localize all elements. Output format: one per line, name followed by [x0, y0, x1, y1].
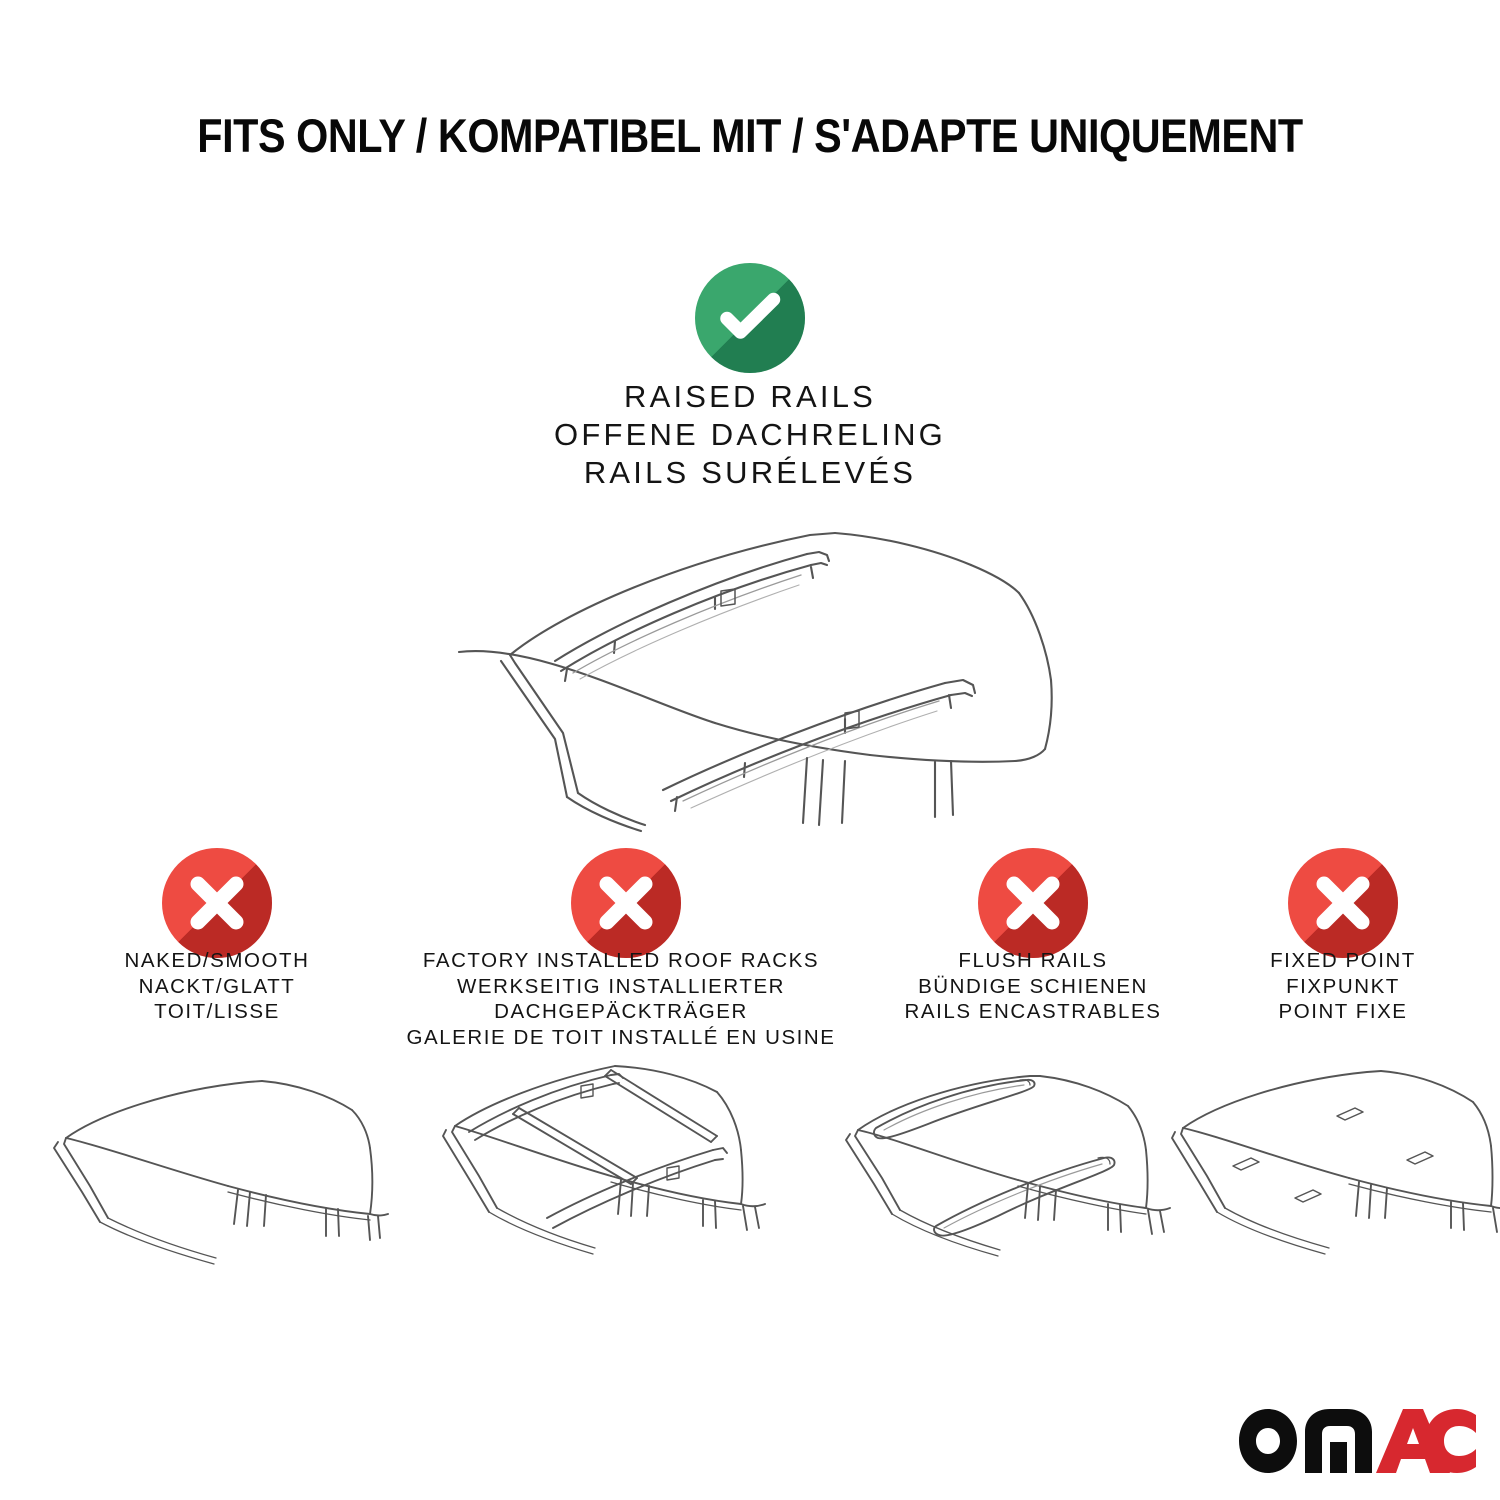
omac-logo-red-part	[1376, 1409, 1476, 1473]
x-circle-icon	[162, 848, 272, 958]
logo-letter-o	[1239, 1409, 1297, 1473]
x-mark-glyph	[571, 848, 681, 958]
incompatible-badge-fixed-point	[1288, 848, 1398, 958]
x-mark-glyph	[1288, 848, 1398, 958]
label-line-de: FIXPUNKT	[1093, 974, 1500, 1000]
car-roof-raised-rails-illustration	[415, 505, 1115, 835]
car-roof-factory-installed-roof-racks-illustration	[405, 1058, 775, 1293]
omac-logo	[1235, 1405, 1480, 1485]
incompatible-label-fixed-point: FIXED POINT FIXPUNKT POINT FIXE	[1093, 948, 1500, 1025]
car-roof-fixed-point-illustration	[1155, 1058, 1500, 1293]
roof-illustrations-row	[0, 1058, 1500, 1298]
logo-letter-m-notch	[1330, 1442, 1347, 1473]
check-circle-icon	[695, 263, 805, 373]
x-mark-glyph	[162, 848, 272, 958]
omac-logo-black-part	[1239, 1409, 1372, 1473]
compatible-label-line-de: OFFENE DACHRELING	[0, 416, 1500, 454]
compatible-badge	[695, 263, 805, 373]
label-line-fr: GALERIE DE TOIT INSTALLÉ EN USINE	[316, 1025, 926, 1051]
label-line-fr: POINT FIXE	[1093, 999, 1500, 1025]
incompatible-badge-factory-roof-racks	[571, 848, 681, 958]
compatible-label-line-fr: RAILS SURÉLEVÉS	[0, 454, 1500, 492]
incompatible-badge-naked-smooth	[162, 848, 272, 958]
x-circle-icon	[571, 848, 681, 958]
x-mark-glyph	[978, 848, 1088, 958]
x-circle-icon	[1288, 848, 1398, 958]
compatible-label-line-en: RAISED RAILS	[0, 378, 1500, 416]
label-line-en: FIXED POINT	[1093, 948, 1500, 974]
page-title: FITS ONLY / KOMPATIBEL MIT / S'ADAPTE UN…	[90, 108, 1410, 163]
compatible-label: RAISED RAILS OFFENE DACHRELING RAILS SUR…	[0, 378, 1500, 492]
x-circle-icon	[978, 848, 1088, 958]
incompatible-badge-flush-rails	[978, 848, 1088, 958]
car-roof-naked-smooth-illustration	[30, 1058, 400, 1293]
check-mark-glyph	[695, 263, 805, 373]
car-roof-flush-rails-illustration	[818, 1058, 1188, 1293]
